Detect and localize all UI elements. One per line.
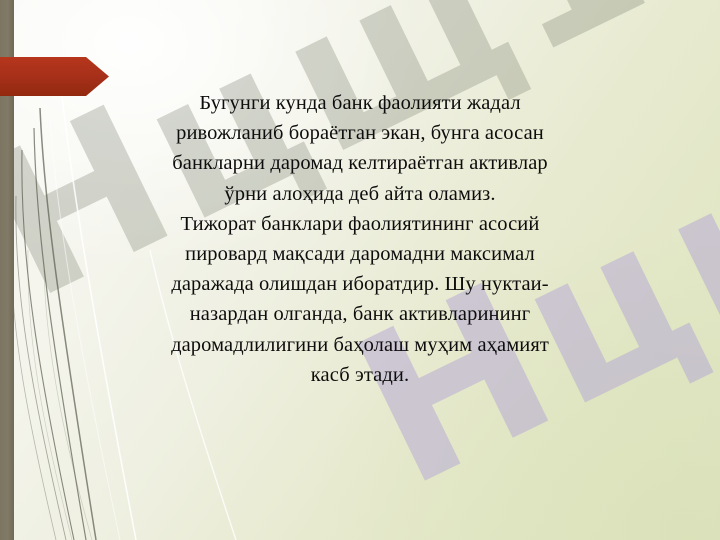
body-line: даромадлилигини баҳолаш муҳим аҳамият xyxy=(96,330,624,360)
body-line: пировард мақсади даромадни максимал xyxy=(96,239,624,269)
body-line: Бугунги кунда банк фаолияти жадал xyxy=(96,88,624,118)
body-line: ривожланиб бораётган экан, бунга асосан xyxy=(96,118,624,148)
body-line: касб этади. xyxy=(96,360,624,390)
body-line: Тижорат банклари фаолиятининг асосий xyxy=(96,209,624,239)
body-line: ўрни алоҳида деб айта оламиз. xyxy=(96,179,624,209)
slide-body-text: Бугунги кунда банк фаолияти жадал ривожл… xyxy=(96,88,624,390)
body-line: банкларни даромад келтираётган активлар xyxy=(96,148,624,178)
presentation-slide: Нцщ1ё4 Нцщ1ё4 xyxy=(0,0,720,540)
body-line: назардан олганда, банк активларининг xyxy=(96,299,624,329)
red-right-arrow-icon xyxy=(0,57,110,96)
body-line: даражада олишдан иборатдир. Шу нуктаи- xyxy=(96,269,624,299)
